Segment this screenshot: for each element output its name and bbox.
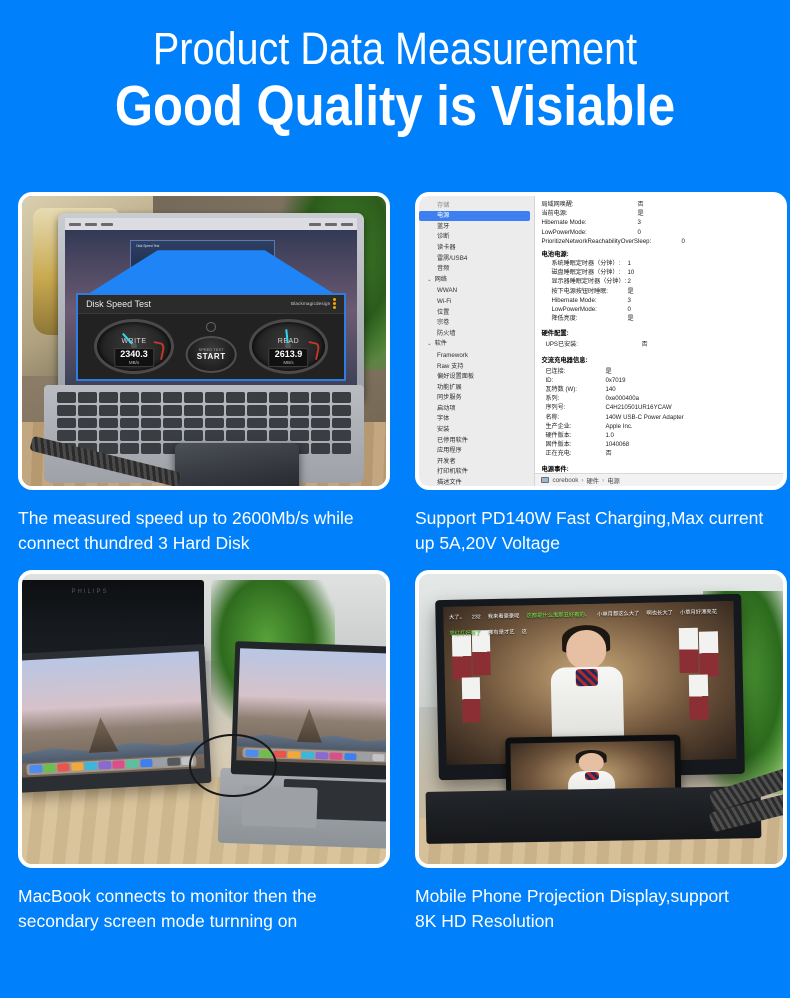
caption-line-1: Support PD140W Fast Charging,Max current [415, 508, 763, 528]
detail-value: 0 [627, 305, 630, 314]
feature-card-second-screen: PHILIPS [18, 570, 390, 948]
danmu-comment: 小草月好漂亮花 [680, 608, 717, 618]
detail-row: 固件版本:1040068 [541, 440, 777, 449]
monitor-screen [18, 652, 204, 778]
danmu-comment: 大了。 [449, 613, 465, 622]
menu-item-icon [85, 223, 97, 226]
app-title: Disk Speed Test [86, 299, 151, 309]
detail-row: 当前电源:是 [541, 209, 777, 218]
sidebar-item-bluetooth[interactable]: 蓝牙 [419, 221, 534, 232]
detail-value: 是 [627, 314, 633, 323]
detail-value: 否 [605, 449, 611, 458]
detail-key: 当前电源: [541, 209, 637, 218]
dock-icon-music[interactable] [112, 761, 125, 769]
detail-row: LowPowerMode:0 [541, 305, 777, 314]
page-header: Product Data Measurement Good Quality is… [0, 0, 790, 137]
detail-row: LowPowerMode:0 [541, 228, 777, 237]
detail-row: 生产企业:Apple Inc. [541, 422, 777, 431]
sidebar-item-framework[interactable]: Framework [419, 350, 534, 361]
breadcrumb-device[interactable]: corebook [552, 477, 578, 484]
detail-row: 降低亮度:是 [541, 314, 777, 323]
detail-row: 系列:0xe000400a [541, 394, 777, 403]
write-gauge: WRITE 2340.3 MB/s [94, 319, 174, 374]
sysinfo-sidebar[interactable]: 存储 电源 蓝牙 诊断 读卡器 雷雳/USB4 音频 网络 WWAN Wi-Fi… [419, 196, 535, 486]
sidebar-item-card-reader[interactable]: 读卡器 [419, 242, 534, 253]
dock-icon-messages[interactable] [85, 763, 98, 771]
sidebar-item-applications[interactable]: 应用程序 [419, 446, 534, 457]
sidebar-item-printer-software[interactable]: 打印机软件 [419, 467, 534, 478]
danmu-comment: 啊也长大了 [647, 609, 674, 619]
video-person [689, 675, 709, 720]
sidebar-item-firewall[interactable]: 防火墙 [419, 328, 534, 339]
sysinfo-detail-pane: 局域网唤醒:否 当前电源:是 Hibernate Mode:3 LowPower… [535, 196, 783, 486]
detail-value: 0 [681, 237, 684, 246]
laptop-lid: Disk Speed Test Disk Speed Test Blackmag… [58, 213, 364, 399]
photo-phone-projection: 大了。 232 我来看豪豪呢 这都是什么鬼那丑好看的。 小单月都这么大了 啊也长… [415, 570, 787, 868]
sidebar-item-startup-items[interactable]: 启动项 [419, 403, 534, 414]
caption-line-1: The measured speed up to 2600Mb/s while [18, 508, 354, 528]
start-button-label: START [197, 352, 226, 361]
detail-key: 系统睡眠定时器（分钟）: [541, 259, 627, 268]
app-titlebar: Disk Speed Test Blackmagicdesign [78, 295, 344, 314]
danmu-like-count: 232 [472, 613, 481, 622]
sidebar-item-volumes[interactable]: 宗卷 [419, 318, 534, 329]
detail-row: 瓦特数 (W):140 [541, 385, 777, 394]
feature-card-phone-projection: 大了。 232 我来看豪豪呢 这都是什么鬼那丑好看的。 小单月都这么大了 啊也长… [415, 570, 787, 948]
page-title-primary: Product Data Measurement [47, 26, 742, 71]
detail-value: 0xe000400a [605, 394, 639, 403]
detail-value: 是 [605, 367, 611, 376]
detail-key: 已连接: [545, 367, 605, 376]
detail-value: 是 [637, 209, 643, 218]
app-body: WRITE 2340.3 MB/s [78, 314, 344, 380]
danmu-comment: 这都是什么鬼那丑好看的。 [527, 611, 591, 621]
detail-value: 140 [605, 385, 615, 394]
detail-row: ID:0x7019 [541, 376, 777, 385]
brand-dots-icon [333, 298, 336, 310]
detail-value: 1.0 [605, 431, 613, 440]
sidebar-item-profiles[interactable]: 描述文件 [419, 477, 534, 486]
danmu-comment: 哪有是才艺 [488, 628, 515, 638]
dock-icon-launchpad[interactable] [43, 765, 56, 773]
dock-icon-photos[interactable] [99, 762, 112, 770]
sidebar-item-disabled-software[interactable]: 已停用软件 [419, 435, 534, 446]
key-row [57, 418, 352, 429]
detail-key: 磁盘睡眠定时器（分钟）: [541, 268, 627, 277]
speed-test-start-button[interactable]: SPEED TEST START [186, 336, 237, 373]
subject-bowtie [576, 669, 597, 687]
detail-value: 0 [637, 228, 640, 237]
photo-disk-speed-test: Disk Speed Test Disk Speed Test Blackmag… [18, 192, 390, 490]
detail-key: LowPowerMode: [541, 305, 627, 314]
detail-key: ID: [545, 376, 605, 385]
detail-row: 按下电源按钮时睡眠:是 [541, 287, 777, 296]
write-readout: 2340.3 MB/s [114, 348, 154, 366]
detail-value: 1040068 [605, 440, 629, 449]
caption-phone-projection: Mobile Phone Projection Display,support … [415, 884, 787, 934]
laptop-screen: Disk Speed Test Disk Speed Test Blackmag… [65, 218, 357, 387]
sidebar-item-audio[interactable]: 音频 [419, 264, 534, 275]
video-person [679, 628, 699, 673]
dock-icon-messages[interactable] [302, 751, 315, 759]
external-ssd-drive [175, 443, 299, 491]
video-person [462, 678, 482, 723]
detail-key: 硬件版本: [545, 431, 605, 440]
detail-row: 磁盘睡眠定时器（分钟）:10 [541, 268, 777, 277]
write-unit: MB/s [120, 360, 148, 365]
background-tv: PHILIPS [18, 580, 204, 655]
wifi-icon [325, 223, 337, 226]
detail-key: 显示器睡眠定时器（分钟）: [541, 277, 627, 286]
dock-icon-appstore[interactable] [140, 760, 153, 768]
dock-icon-finder[interactable] [30, 765, 43, 773]
dock-icon-safari[interactable] [274, 750, 287, 758]
feature-card-disk-speed-test: Disk Speed Test Disk Speed Test Blackmag… [18, 192, 390, 570]
detail-key: 名称: [545, 413, 605, 422]
charger-info-section-title: 交流充电器信息: [541, 355, 777, 364]
detail-key: 系列: [545, 394, 605, 403]
macos-menubar [65, 218, 357, 230]
tv-brand-label: PHILIPS [72, 589, 109, 595]
usb-c-cable [189, 734, 276, 798]
sidebar-item-raw-support[interactable]: Raw 支持 [419, 361, 534, 372]
dock-icon-settings[interactable] [154, 759, 167, 767]
detail-value: 3 [627, 296, 630, 305]
detail-row: Hibernate Mode:3 [541, 296, 777, 305]
brand-label: Blackmagicdesign [291, 301, 330, 306]
sidebar-item-thunderbolt-usb4[interactable]: 雷雳/USB4 [419, 253, 534, 264]
dock-icon-appstore[interactable] [344, 752, 357, 760]
photo-second-screen: PHILIPS [18, 570, 390, 868]
dock-icon-music[interactable] [330, 752, 343, 760]
dock-icon-mail[interactable] [288, 750, 301, 758]
dock-icon-mail[interactable] [71, 763, 84, 771]
sidebar-group-network[interactable]: 网络 [419, 274, 534, 286]
feature-grid: Disk Speed Test Disk Speed Test Blackmag… [0, 192, 790, 948]
key-row [57, 405, 352, 416]
detail-value: 10 [627, 268, 634, 277]
power-events-section-title: 电源事件: [541, 464, 777, 473]
detail-row: 硬件版本:1.0 [541, 431, 777, 440]
detail-key: 局域网唤醒: [541, 200, 637, 209]
caption-line-2: up 5A,20V Voltage [415, 531, 787, 556]
sidebar-item-preference-panes[interactable]: 偏好设置面板 [419, 372, 534, 383]
detail-key: 按下电源按钮时睡眠: [541, 287, 627, 296]
sidebar-item-wifi[interactable]: Wi-Fi [419, 296, 534, 307]
caption-disk-speed-test: The measured speed up to 2600Mb/s while … [18, 506, 390, 556]
sidebar-item-fonts[interactable]: 字体 [419, 414, 534, 425]
portable-monitor [18, 644, 211, 793]
breadcrumb-level-2[interactable]: 电源 [607, 476, 620, 485]
detail-value: Apple Inc. [605, 422, 632, 431]
danmu-comment: 小单月都这么大了 [597, 610, 640, 620]
video-crowd-left [452, 628, 501, 727]
photo-system-information: 存储 电源 蓝牙 诊断 读卡器 雷雳/USB4 音频 网络 WWAN Wi-Fi… [415, 192, 787, 490]
breadcrumb: corebook › 硬件 › 电源 [535, 473, 783, 486]
sidebar-item-sync-services[interactable]: 同步服务 [419, 393, 534, 404]
detail-key: 生产企业: [545, 422, 605, 431]
small-window-title: Disk Speed Test [136, 244, 159, 248]
breadcrumb-level-1[interactable]: 硬件 [586, 476, 599, 485]
detail-row: 系统睡眠定时器（分钟）:1 [541, 259, 777, 268]
page-title-secondary: Good Quality is Visiable [55, 77, 734, 137]
detail-row: 显示器睡眠定时器（分钟）:2 [541, 277, 777, 286]
sidebar-item-diagnostics[interactable]: 诊断 [419, 232, 534, 243]
detail-row: 名称:140W USB-C Power Adapter [541, 413, 777, 422]
danmu-comment: 我来看豪豪呢 [488, 612, 520, 622]
detail-key: 正在充电: [545, 449, 605, 458]
video-person [452, 635, 472, 680]
caption-line-2: secondary screen mode turnning on [18, 909, 390, 934]
detail-key: 瓦特数 (W): [545, 385, 605, 394]
detail-row: PrioritizeNetworkReachabilityOverSleep:0 [541, 237, 777, 246]
detail-value: C4H210501UR16YCAW [605, 403, 671, 412]
detail-value: 否 [637, 200, 643, 209]
dock-icon-trash[interactable] [372, 753, 385, 761]
detail-row: 局域网唤醒:否 [541, 200, 777, 209]
detail-row: 正在充电:否 [541, 449, 777, 458]
menu-item-icon [101, 223, 113, 226]
detail-row: Hibernate Mode:3 [541, 218, 777, 227]
detail-row: UPS已安装:否 [541, 340, 777, 349]
read-unit: MB/s [275, 360, 303, 365]
caption-line-2: connect thundred 3 Hard Disk [18, 531, 390, 556]
sidebar-item-wwan[interactable]: WWAN [419, 286, 534, 297]
detail-value: 否 [641, 340, 647, 349]
detail-row: 已连接:是 [541, 367, 777, 376]
video-person [699, 632, 719, 677]
status-icon [309, 223, 321, 226]
detail-value: 2 [627, 277, 630, 286]
feature-card-system-information: 存储 电源 蓝牙 诊断 读卡器 雷雳/USB4 音频 网络 WWAN Wi-Fi… [415, 192, 787, 570]
detail-key: Hibernate Mode: [541, 218, 637, 227]
key-row [57, 392, 352, 403]
settings-gear-icon[interactable] [206, 322, 216, 332]
read-gauge: READ 2613.9 MB/s [249, 319, 329, 374]
key-row [57, 430, 352, 441]
write-value: 2340.3 [120, 350, 148, 359]
sidebar-item-extensions[interactable]: 功能扩展 [419, 382, 534, 393]
sidebar-item-location[interactable]: 位置 [419, 307, 534, 318]
detail-key: PrioritizeNetworkReachabilityOverSleep: [541, 237, 681, 246]
apple-menu-icon [69, 223, 81, 226]
breadcrumb-separator-icon: › [581, 477, 583, 484]
sidebar-item-storage[interactable]: 存储 [419, 200, 534, 211]
detail-key: 固件版本: [545, 440, 605, 449]
system-information-window: 存储 电源 蓝牙 诊断 读卡器 雷雳/USB4 音频 网络 WWAN Wi-Fi… [419, 196, 783, 486]
detail-value: 3 [637, 218, 640, 227]
sidebar-item-developer[interactable]: 开发者 [419, 456, 534, 467]
detail-row: 序列号:C4H210501UR16YCAW [541, 403, 777, 412]
caption-system-information: Support PD140W Fast Charging,Max current… [415, 506, 787, 556]
breadcrumb-separator-icon: › [602, 477, 604, 484]
read-value: 2613.9 [275, 350, 303, 359]
danmu-comment: 这 [522, 628, 527, 637]
sidebar-item-power[interactable]: 电源 [419, 211, 530, 222]
clock-icon [341, 223, 353, 226]
sidebar-group-software[interactable]: 软件 [419, 339, 534, 351]
danmu-comment: 求红灯好听了 [449, 629, 481, 639]
dock-icon-terminal[interactable] [167, 758, 180, 766]
battery-power-section-title: 电池电源: [541, 249, 777, 258]
sidebar-item-installations[interactable]: 安装 [419, 424, 534, 435]
detail-key: LowPowerMode: [541, 228, 637, 237]
caption-line-1: MacBook connects to monitor then the [18, 886, 317, 906]
dock-icon-safari[interactable] [57, 764, 70, 772]
detail-key: 序列号: [545, 403, 605, 412]
caption-line-2: 8K HD Resolution [415, 909, 787, 934]
caption-second-screen: MacBook connects to monitor then the sec… [18, 884, 390, 934]
detail-key: UPS已安装: [545, 340, 641, 349]
disk-speed-test-window[interactable]: Disk Speed Test Blackmagicdesign WRITE [77, 294, 345, 380]
detail-value: 140W USB-C Power Adapter [605, 413, 683, 422]
read-readout: 2613.9 MB/s [269, 348, 309, 366]
hardware-config-section-title: 硬件配置: [541, 328, 777, 337]
dock-icon-notes[interactable] [126, 760, 139, 768]
dock-icon-photos[interactable] [316, 751, 329, 759]
dock-icon-settings[interactable] [358, 753, 371, 761]
detail-value: 0x7019 [605, 376, 625, 385]
computer-icon [541, 477, 549, 483]
wallpaper-rock [87, 717, 118, 754]
wallpaper-rock [297, 708, 323, 742]
caption-line-1: Mobile Phone Projection Display,support [415, 886, 729, 906]
detail-key: 降低亮度: [541, 314, 627, 323]
detail-value: 是 [627, 287, 633, 296]
video-crowd-right [679, 624, 728, 723]
subject-face [579, 753, 605, 773]
subject-bowtie [585, 772, 599, 781]
detail-value: 1 [627, 259, 630, 268]
detail-key: Hibernate Mode: [541, 296, 627, 305]
